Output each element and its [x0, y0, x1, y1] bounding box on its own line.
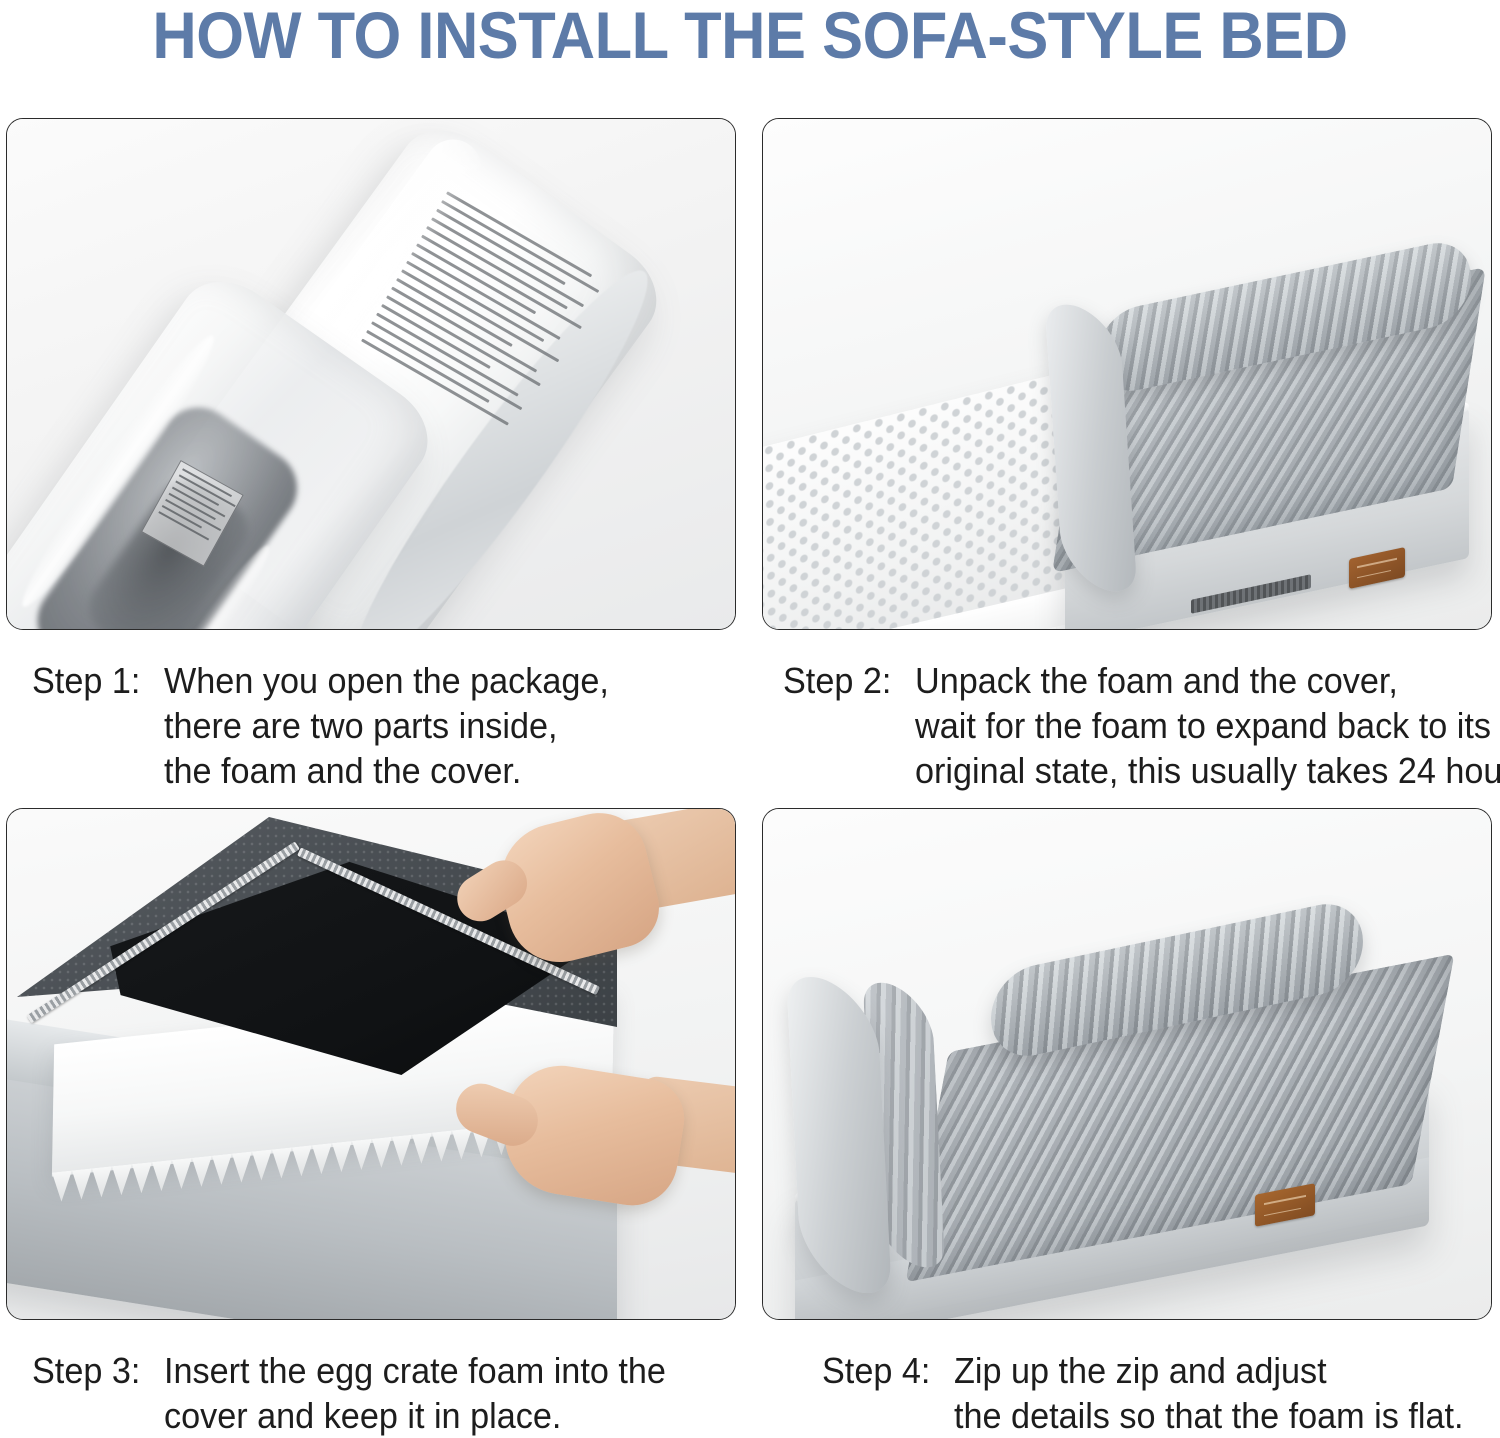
step-4-line-1: Zip up the zip and adjust — [954, 1348, 1463, 1393]
foam-and-bed-photo — [763, 119, 1491, 629]
step-3-line-2: cover and keep it in place. — [164, 1393, 666, 1438]
step-4-text: Zip up the zip and adjust the details so… — [954, 1348, 1463, 1438]
step-4-label: Step 4: — [822, 1348, 930, 1393]
step-1-label: Step 1: — [32, 658, 140, 703]
finished-bed-photo — [763, 809, 1491, 1319]
step-2-line-2: wait for the foam to expand back to its — [915, 703, 1500, 748]
step-4-caption: Step 4: Zip up the zip and adjust the de… — [822, 1348, 1490, 1438]
step-2-text: Unpack the foam and the cover, wait for … — [915, 658, 1500, 793]
step-1-line-3: the foam and the cover. — [164, 748, 609, 793]
packages-photo — [7, 119, 735, 629]
step-4-line-2: the details so that the foam is flat. — [954, 1393, 1463, 1438]
step-1-image-panel — [6, 118, 736, 630]
step-1-caption: Step 1: When you open the package, there… — [32, 658, 632, 793]
step-1-line-1: When you open the package, — [164, 658, 609, 703]
step-2-caption: Step 2: Unpack the foam and the cover, w… — [783, 658, 1500, 793]
step-4-image-panel — [762, 808, 1492, 1320]
step-3-caption: Step 3: Insert the egg crate foam into t… — [32, 1348, 692, 1438]
plush-bed — [1031, 269, 1471, 629]
step-3-image-panel — [6, 808, 736, 1320]
step-2-line-3: original state, this usually takes 24 ho… — [915, 748, 1500, 793]
page-title: HOW TO INSTALL THE SOFA-STYLE BED — [53, 0, 1448, 72]
step-1-text: When you open the package, there are two… — [164, 658, 609, 793]
inserting-foam-photo — [7, 809, 735, 1319]
step-2-image-panel — [762, 118, 1492, 630]
step-3-line-1: Insert the egg crate foam into the — [164, 1348, 666, 1393]
step-3-label: Step 3: — [32, 1348, 140, 1393]
step-1-line-2: there are two parts inside, — [164, 703, 609, 748]
step-3-text: Insert the egg crate foam into the cover… — [164, 1348, 666, 1438]
finished-sofa-bed — [777, 921, 1467, 1301]
step-2-line-1: Unpack the foam and the cover, — [915, 658, 1500, 703]
step-2-label: Step 2: — [783, 658, 891, 703]
